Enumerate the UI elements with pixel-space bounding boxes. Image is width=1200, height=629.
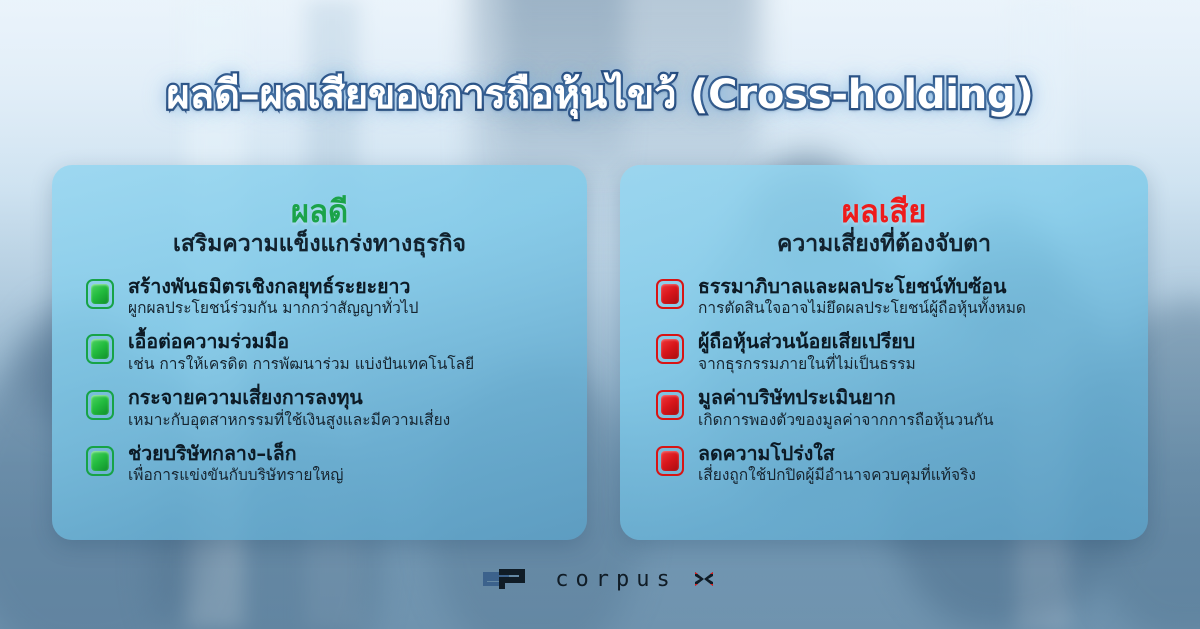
- green-square-icon: [86, 334, 114, 364]
- list-item-desc: จากธุรกรรมภายในที่ไม่เป็นธรรม: [698, 355, 916, 375]
- pros-subheading: เสริมความแข็งแกร่งทางธุรกิจ: [52, 231, 587, 259]
- pros-card: ผลดี เสริมความแข็งแกร่งทางธุรกิจ สร้างพั…: [52, 165, 587, 540]
- list-item-text: กระจายความเสี่ยงการลงทุน เหมาะกับอุตสาหก…: [128, 386, 450, 431]
- cons-subheading: ความเสี่ยงที่ต้องจับตา: [620, 231, 1148, 259]
- infographic-canvas: ผลดี–ผลเสียของการถือหุ้นไขว้ (Cross-hold…: [0, 0, 1200, 629]
- corpus-cp-logo-icon: [483, 566, 539, 592]
- list-item-desc: เพื่อการแข่งขันกับบริษัทรายใหญ่: [128, 466, 344, 486]
- brand-wordmark: corpus: [555, 567, 676, 592]
- list-item-text: ลดความโปร่งใส เสี่ยงถูกใช้ปกปิดผู้มีอำนา…: [698, 442, 976, 487]
- list-item: ธรรมาภิบาลและผลประโยชน์ทับซ้อน การตัดสิน…: [656, 275, 1130, 320]
- list-item-text: ช่วยบริษัทกลาง–เล็ก เพื่อการแข่งขันกับบร…: [128, 442, 344, 487]
- list-item-desc: เสี่ยงถูกใช้ปกปิดผู้มีอำนาจควบคุมที่แท้จ…: [698, 466, 976, 486]
- red-square-icon: [656, 446, 684, 476]
- list-item: เอื้อต่อความร่วมมือ เช่น การให้เครดิต กา…: [86, 330, 569, 375]
- list-item-title: สร้างพันธมิตรเชิงกลยุทธ์ระยะยาว: [128, 275, 418, 299]
- list-item-text: มูลค่าบริษัทประเมินยาก เกิดการพองตัวของม…: [698, 386, 994, 431]
- list-item-title: ช่วยบริษัทกลาง–เล็ก: [128, 442, 344, 466]
- list-item-text: ธรรมาภิบาลและผลประโยชน์ทับซ้อน การตัดสิน…: [698, 275, 1026, 320]
- list-item-title: มูลค่าบริษัทประเมินยาก: [698, 386, 994, 410]
- brand-footer: corpus: [0, 566, 1200, 592]
- list-item-text: ผู้ถือหุ้นส่วนน้อยเสียเปรียบ จากธุรกรรมภ…: [698, 330, 916, 375]
- green-square-icon: [86, 279, 114, 309]
- list-item: ผู้ถือหุ้นส่วนน้อยเสียเปรียบ จากธุรกรรมภ…: [656, 330, 1130, 375]
- list-item: ช่วยบริษัทกลาง–เล็ก เพื่อการแข่งขันกับบร…: [86, 442, 569, 487]
- list-item: มูลค่าบริษัทประเมินยาก เกิดการพองตัวของม…: [656, 386, 1130, 431]
- red-square-icon: [656, 390, 684, 420]
- list-item-text: สร้างพันธมิตรเชิงกลยุทธ์ระยะยาว ผูกผลประ…: [128, 275, 418, 320]
- green-square-icon: [86, 390, 114, 420]
- list-item-desc: ผูกผลประโยชน์ร่วมกัน มากกว่าสัญญาทั่วไป: [128, 299, 418, 319]
- list-item: ลดความโปร่งใส เสี่ยงถูกใช้ปกปิดผู้มีอำนา…: [656, 442, 1130, 487]
- list-item: กระจายความเสี่ยงการลงทุน เหมาะกับอุตสาหก…: [86, 386, 569, 431]
- page-title: ผลดี–ผลเสียของการถือหุ้นไขว้ (Cross-hold…: [166, 72, 1033, 118]
- list-item-title: ธรรมาภิบาลและผลประโยชน์ทับซ้อน: [698, 275, 1026, 299]
- green-square-icon: [86, 446, 114, 476]
- cons-card: ผลเสีย ความเสี่ยงที่ต้องจับตา ธรรมาภิบาล…: [620, 165, 1148, 540]
- pros-heading: ผลดี: [52, 195, 587, 229]
- red-square-icon: [656, 334, 684, 364]
- list-item-desc: เกิดการพองตัวของมูลค่าจากการถือหุ้นวนกัน: [698, 411, 994, 431]
- list-item-desc: การตัดสินใจอาจไม่ยึดผลประโยชน์ผู้ถือหุ้น…: [698, 299, 1026, 319]
- cons-list: ธรรมาภิบาลและผลประโยชน์ทับซ้อน การตัดสิน…: [620, 275, 1148, 486]
- list-item-title: ลดความโปร่งใส: [698, 442, 976, 466]
- list-item-desc: เหมาะกับอุตสาหกรรมที่ใช้เงินสูงและมีความ…: [128, 411, 450, 431]
- pros-list: สร้างพันธมิตรเชิงกลยุทธ์ระยะยาว ผูกผลประ…: [52, 275, 587, 486]
- list-item-title: เอื้อต่อความร่วมมือ: [128, 330, 474, 354]
- pros-card-header: ผลดี เสริมความแข็งแกร่งทางธุรกิจ: [52, 165, 587, 259]
- x-mark-icon: [691, 566, 717, 592]
- cons-heading: ผลเสีย: [620, 195, 1148, 229]
- red-square-icon: [656, 279, 684, 309]
- title-area: ผลดี–ผลเสียของการถือหุ้นไขว้ (Cross-hold…: [0, 72, 1200, 118]
- list-item-desc: เช่น การให้เครดิต การพัฒนาร่วม แบ่งปันเท…: [128, 355, 474, 375]
- list-item-title: ผู้ถือหุ้นส่วนน้อยเสียเปรียบ: [698, 330, 916, 354]
- list-item-title: กระจายความเสี่ยงการลงทุน: [128, 386, 450, 410]
- cons-card-header: ผลเสีย ความเสี่ยงที่ต้องจับตา: [620, 165, 1148, 259]
- list-item: สร้างพันธมิตรเชิงกลยุทธ์ระยะยาว ผูกผลประ…: [86, 275, 569, 320]
- list-item-text: เอื้อต่อความร่วมมือ เช่น การให้เครดิต กา…: [128, 330, 474, 375]
